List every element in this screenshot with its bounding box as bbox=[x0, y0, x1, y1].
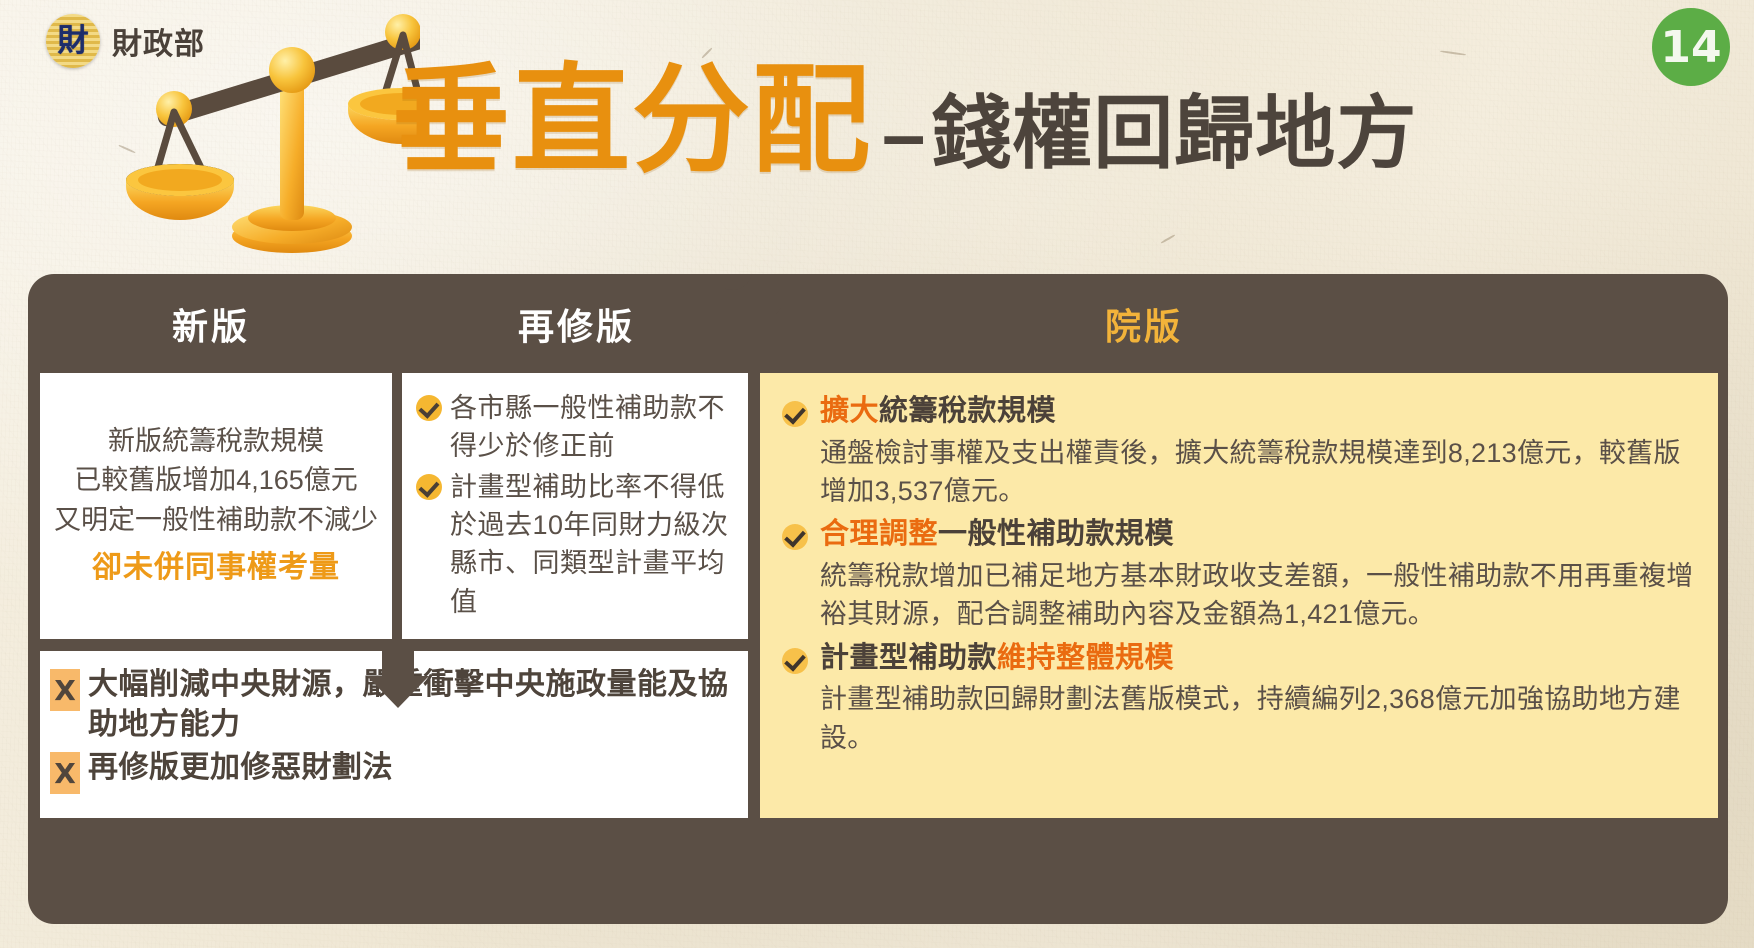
list-item-heading: 擴大統籌稅款規模 bbox=[820, 393, 1696, 431]
list-item-body: 計畫型補助款回歸財劃法舊版模式，持續編列2,368億元加強協助地方建設。 bbox=[820, 680, 1696, 757]
card-new-version: 新版統籌稅款規模 已較舊版增加4,165億元 又明定一般性補助款不減少 卻未併同… bbox=[40, 373, 392, 639]
check-icon bbox=[782, 648, 808, 674]
page-title-sub: 錢權回歸地方 bbox=[931, 94, 1417, 174]
page-title: 垂直分配 – 錢權回歸地方 bbox=[392, 62, 1417, 180]
tab-notch-divider bbox=[725, 274, 781, 314]
card-new-line: 又明定一般性補助款不減少 bbox=[54, 501, 378, 540]
tab-new-version[interactable]: 新版 bbox=[172, 298, 250, 350]
heading-rest: 統籌稅款規模 bbox=[879, 395, 1056, 427]
list-item: 擴大統籌稅款規模 通盤檢討事權及支出權責後，擴大統籌稅款規模達到8,213億元，… bbox=[778, 393, 1696, 510]
list-item-label: 各市縣一般性補助款不得少於修正前 bbox=[450, 389, 734, 466]
cross-icon: X bbox=[50, 669, 80, 711]
check-icon bbox=[782, 401, 808, 427]
list-item-body: 通盤檢討事權及支出權責後，擴大統籌稅款規模達到8,213億元，較舊版增加3,53… bbox=[820, 434, 1696, 511]
card-revised-version: 各市縣一般性補助款不得少於修正前 計畫型補助比率不得低於過去10年同財力級次縣市… bbox=[402, 373, 748, 639]
check-icon bbox=[416, 474, 442, 500]
list-item-label: 再修版更加修惡財劃法 bbox=[88, 748, 393, 788]
heading-rest: 一般性補助款規模 bbox=[938, 518, 1174, 550]
check-icon bbox=[782, 524, 808, 550]
list-item: 各市縣一般性補助款不得少於修正前 bbox=[414, 389, 734, 466]
cross-icon: X bbox=[50, 752, 80, 794]
list-item-heading: 合理調整一般性補助款規模 bbox=[820, 516, 1696, 554]
check-icon bbox=[416, 395, 442, 421]
heading-highlight: 維持整體規模 bbox=[997, 642, 1174, 674]
list-item: 計畫型補助款維持整體規模 計畫型補助款回歸財劃法舊版模式，持續編列2,368億元… bbox=[778, 640, 1696, 757]
card-new-line: 已較舊版增加4,165億元 bbox=[54, 461, 378, 500]
card-executive-yuan-version: 擴大統籌稅款規模 通盤檢討事權及支出權責後，擴大統籌稅款規模達到8,213億元，… bbox=[760, 373, 1718, 818]
tab-executive-yuan-version[interactable]: 院版 bbox=[1105, 298, 1183, 350]
heading-rest: 計畫型補助款 bbox=[820, 642, 997, 674]
tab-revised-version[interactable]: 再修版 bbox=[518, 298, 635, 350]
card-new-highlight: 卻未併同事權考量 bbox=[54, 546, 378, 590]
page-number-badge: 14 bbox=[1652, 8, 1730, 86]
card-new-line: 新版統籌稅款規模 bbox=[54, 422, 378, 461]
ministry-crest-icon: 財 bbox=[46, 14, 100, 68]
ministry-logo: 財 財政部 bbox=[46, 14, 205, 68]
list-item: X 再修版更加修惡財劃法 bbox=[50, 748, 734, 794]
heading-highlight: 合理調整 bbox=[820, 518, 938, 550]
page-title-main: 垂直分配 bbox=[392, 62, 872, 180]
list-item-body: 統籌稅款增加已補足地方基本財政收支差額，一般性補助款不用再重複增裕其財源，配合調… bbox=[820, 557, 1696, 634]
ministry-crest-glyph: 財 bbox=[58, 26, 89, 57]
ministry-label: 財政部 bbox=[112, 19, 205, 63]
heading-highlight: 擴大 bbox=[820, 395, 879, 427]
list-item-label: 計畫型補助比率不得低於過去10年同財力級次縣市、同類型計畫平均值 bbox=[450, 468, 734, 621]
list-item: 計畫型補助比率不得低於過去10年同財力級次縣市、同類型計畫平均值 bbox=[414, 468, 734, 621]
page-title-dash: – bbox=[872, 95, 931, 173]
list-item-heading: 計畫型補助款維持整體規模 bbox=[820, 640, 1696, 678]
list-item: 合理調整一般性補助款規模 統籌稅款增加已補足地方基本財政收支差額，一般性補助款不… bbox=[778, 516, 1696, 633]
